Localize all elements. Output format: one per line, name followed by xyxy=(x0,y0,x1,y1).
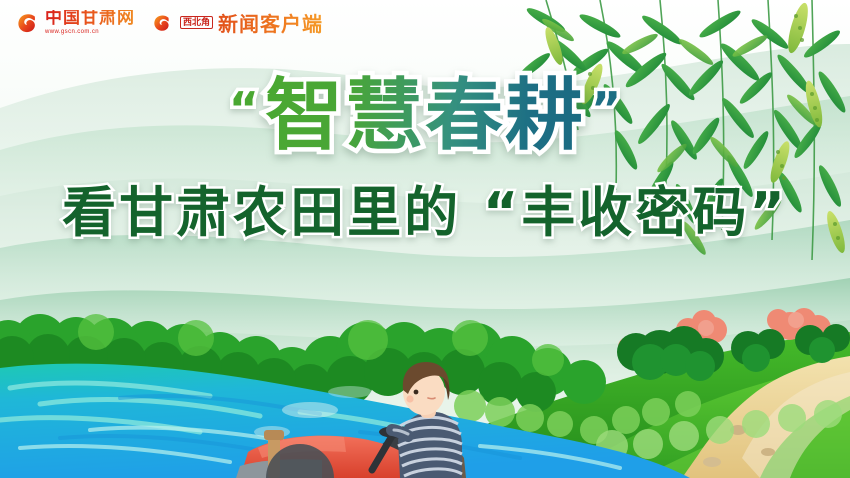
main-title-text: 智慧春耕 xyxy=(265,71,585,161)
xibeijiao-badge: 西北角 xyxy=(180,16,213,29)
poster-banner: 中国甘肃网 www.gscn.com.cn 西北角 新闻客户端 “ 智慧春耕 智… xyxy=(0,0,850,478)
quote-close: ” xyxy=(591,86,621,132)
gscn-logo-name: 中国甘肃网 xyxy=(45,10,135,27)
spiral-flame-icon xyxy=(149,10,175,36)
title-block: “ 智慧春耕 智慧春耕 ” 看甘肃农田里的 “丰收密码” xyxy=(0,78,850,247)
gscn-logo-url: www.gscn.com.cn xyxy=(45,29,135,35)
spiral-flame-icon xyxy=(14,10,40,36)
xibeijiao-logo[interactable]: 西北角 新闻客户端 xyxy=(149,8,323,37)
gscn-logo[interactable]: 中国甘肃网 www.gscn.com.cn xyxy=(14,10,135,36)
sub-title: 看甘肃农田里的 “丰收密码” xyxy=(0,168,850,247)
xibeijiao-app-name: 新闻客户端 xyxy=(218,8,323,37)
logo-bar: 中国甘肃网 www.gscn.com.cn 西北角 新闻客户端 xyxy=(14,8,323,37)
quote-open: “ xyxy=(229,86,259,132)
main-title: “ 智慧春耕 智慧春耕 ” xyxy=(229,78,621,154)
